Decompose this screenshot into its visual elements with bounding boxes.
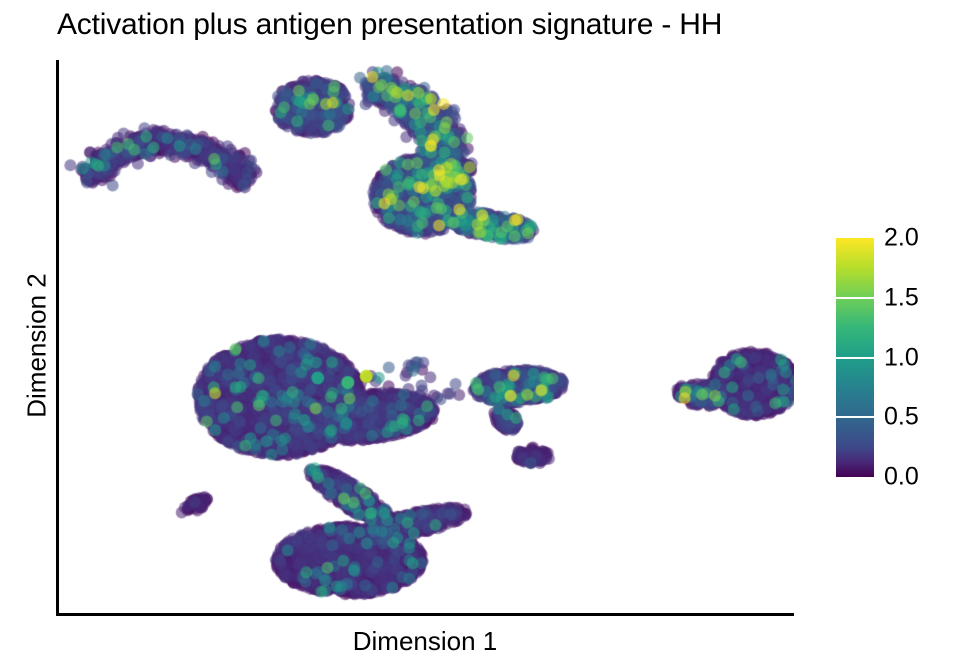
x-axis-line xyxy=(56,613,794,616)
x-axis-label: Dimension 1 xyxy=(56,626,794,657)
page-title: Activation plus antigen presentation sig… xyxy=(57,8,722,42)
colorbar-tick-label: 2.0 xyxy=(884,226,919,251)
colorbar-tick-mark xyxy=(836,416,874,418)
colorbar-tick-label: 0.0 xyxy=(884,465,919,490)
colorbar-tick-label: 1.0 xyxy=(884,345,919,370)
scatter-plot-figure: Activation plus antigen presentation sig… xyxy=(0,0,960,672)
colorbar-legend: 2.01.51.00.50.0 xyxy=(836,238,960,483)
scatter-point-canvas xyxy=(59,60,794,613)
colorbar-tick-mark xyxy=(836,297,874,299)
colorbar-tick-label: 0.5 xyxy=(884,405,919,430)
colorbar-tick-mark xyxy=(836,357,874,359)
y-axis-label: Dimension 2 xyxy=(22,46,53,646)
colorbar-tick-label: 1.5 xyxy=(884,285,919,310)
